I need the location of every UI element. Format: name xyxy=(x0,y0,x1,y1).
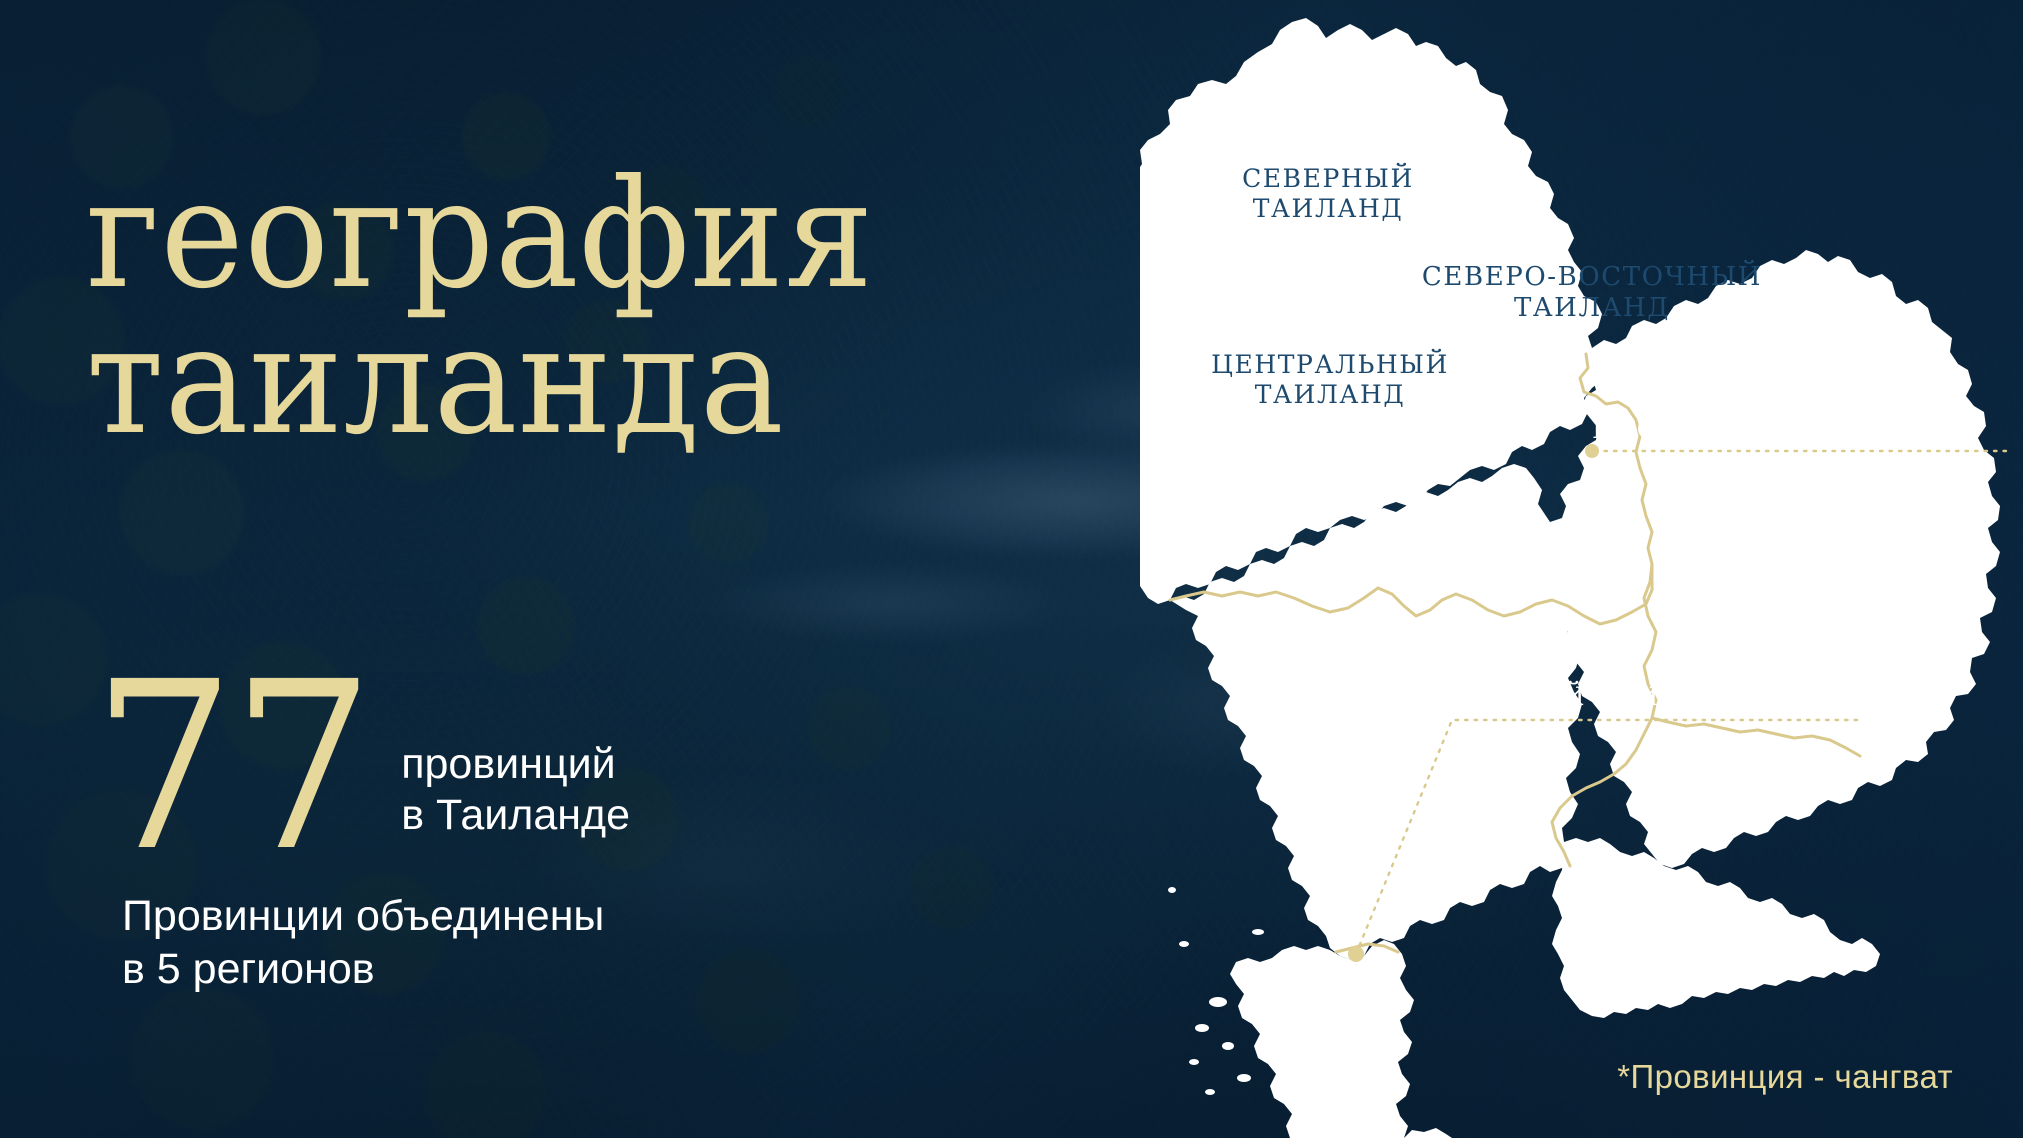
map-label-northeast: северо-восточный таиланд xyxy=(1412,262,1772,323)
map-label-north-line-1: северный xyxy=(1198,164,1458,194)
page-title-line-2: таиланда xyxy=(86,309,857,453)
statistic-subnote: Провинции объединены в 5 регионов xyxy=(122,890,732,995)
page-title: география таиланда xyxy=(86,163,857,453)
statistic-subnote-line-2: в 5 регионов xyxy=(122,943,732,995)
map-label-east-line-1: восточный таиланд xyxy=(1592,415,1992,446)
map-region-south[interactable] xyxy=(1230,940,1414,1138)
statistic-caption-line-2: в Таиланде xyxy=(401,790,630,841)
infographic-poster: география таиланда 77 провинций в Таилан… xyxy=(0,0,2023,1138)
map-label-central: центральный таиланд xyxy=(1190,350,1470,409)
statistic-block: 77 провинций в Таиланде Провинции объеди… xyxy=(92,672,732,995)
map-label-north-line-2: таиланд xyxy=(1198,194,1458,224)
map-leader-south-dot xyxy=(1348,946,1364,962)
map-region-northeast[interactable] xyxy=(1530,250,2000,868)
statistic-caption-line-1: провинций xyxy=(401,739,630,790)
map-label-central-line-1: центральный xyxy=(1190,350,1470,380)
map-label-east: восточный таиланд xyxy=(1592,415,1992,446)
map-label-central-line-2: таиланд xyxy=(1190,380,1470,410)
thailand-map: северный таиланд северо-восточный таилан… xyxy=(1140,0,2023,1138)
map-label-north: северный таиланд xyxy=(1198,164,1458,223)
page-title-line-1: география xyxy=(86,163,857,307)
map-label-northeast-line-2: таиланд xyxy=(1412,293,1772,324)
map-leader-east-dot xyxy=(1585,444,1599,458)
statistic-row: 77 провинций в Таиланде xyxy=(92,672,732,862)
map-label-south-line-1: южный таиланд xyxy=(1450,682,1790,712)
statistic-number: 77 xyxy=(92,672,371,862)
map-region-east[interactable] xyxy=(1552,838,1880,1018)
map-label-northeast-line-1: северо-восточный xyxy=(1412,262,1772,293)
statistic-caption: провинций в Таиланде xyxy=(379,739,630,862)
map-label-south: южный таиланд xyxy=(1450,682,1790,712)
